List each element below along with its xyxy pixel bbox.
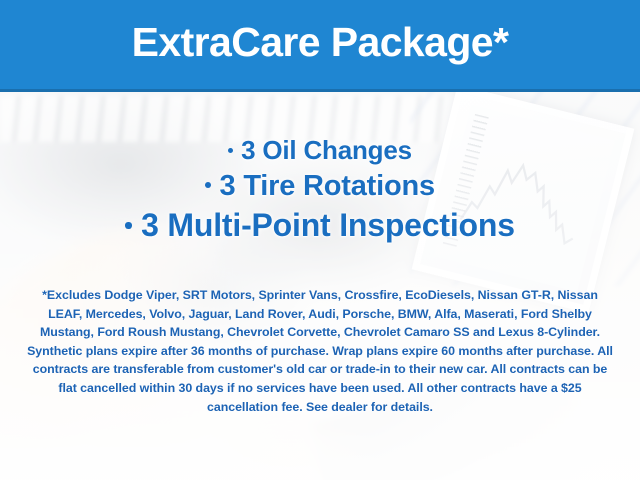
bullet-dot-icon: [125, 222, 131, 228]
bullet-dot-icon: [205, 182, 211, 188]
page-title: ExtraCare Package*: [132, 22, 509, 67]
benefit-label: 3 Oil Changes: [241, 135, 412, 165]
benefit-label: 3 Tire Rotations: [220, 170, 435, 202]
benefit-item-oil-changes: 3 Oil Changes: [0, 136, 640, 166]
benefit-item-tire-rotations: 3 Tire Rotations: [0, 170, 640, 203]
extracare-package-ad: ExtraCare Package* 3 Oil Changes 3 Tire …: [0, 0, 640, 480]
disclaimer-text: *Excludes Dodge Viper, SRT Motors, Sprin…: [26, 286, 614, 416]
benefit-label: 3 Multi-Point Inspections: [141, 207, 515, 243]
benefit-item-multi-point-inspections: 3 Multi-Point Inspections: [0, 207, 640, 243]
bullet-dot-icon: [228, 148, 233, 153]
benefits-list: 3 Oil Changes 3 Tire Rotations 3 Multi-P…: [0, 136, 640, 243]
header-banner: ExtraCare Package*: [0, 0, 640, 92]
